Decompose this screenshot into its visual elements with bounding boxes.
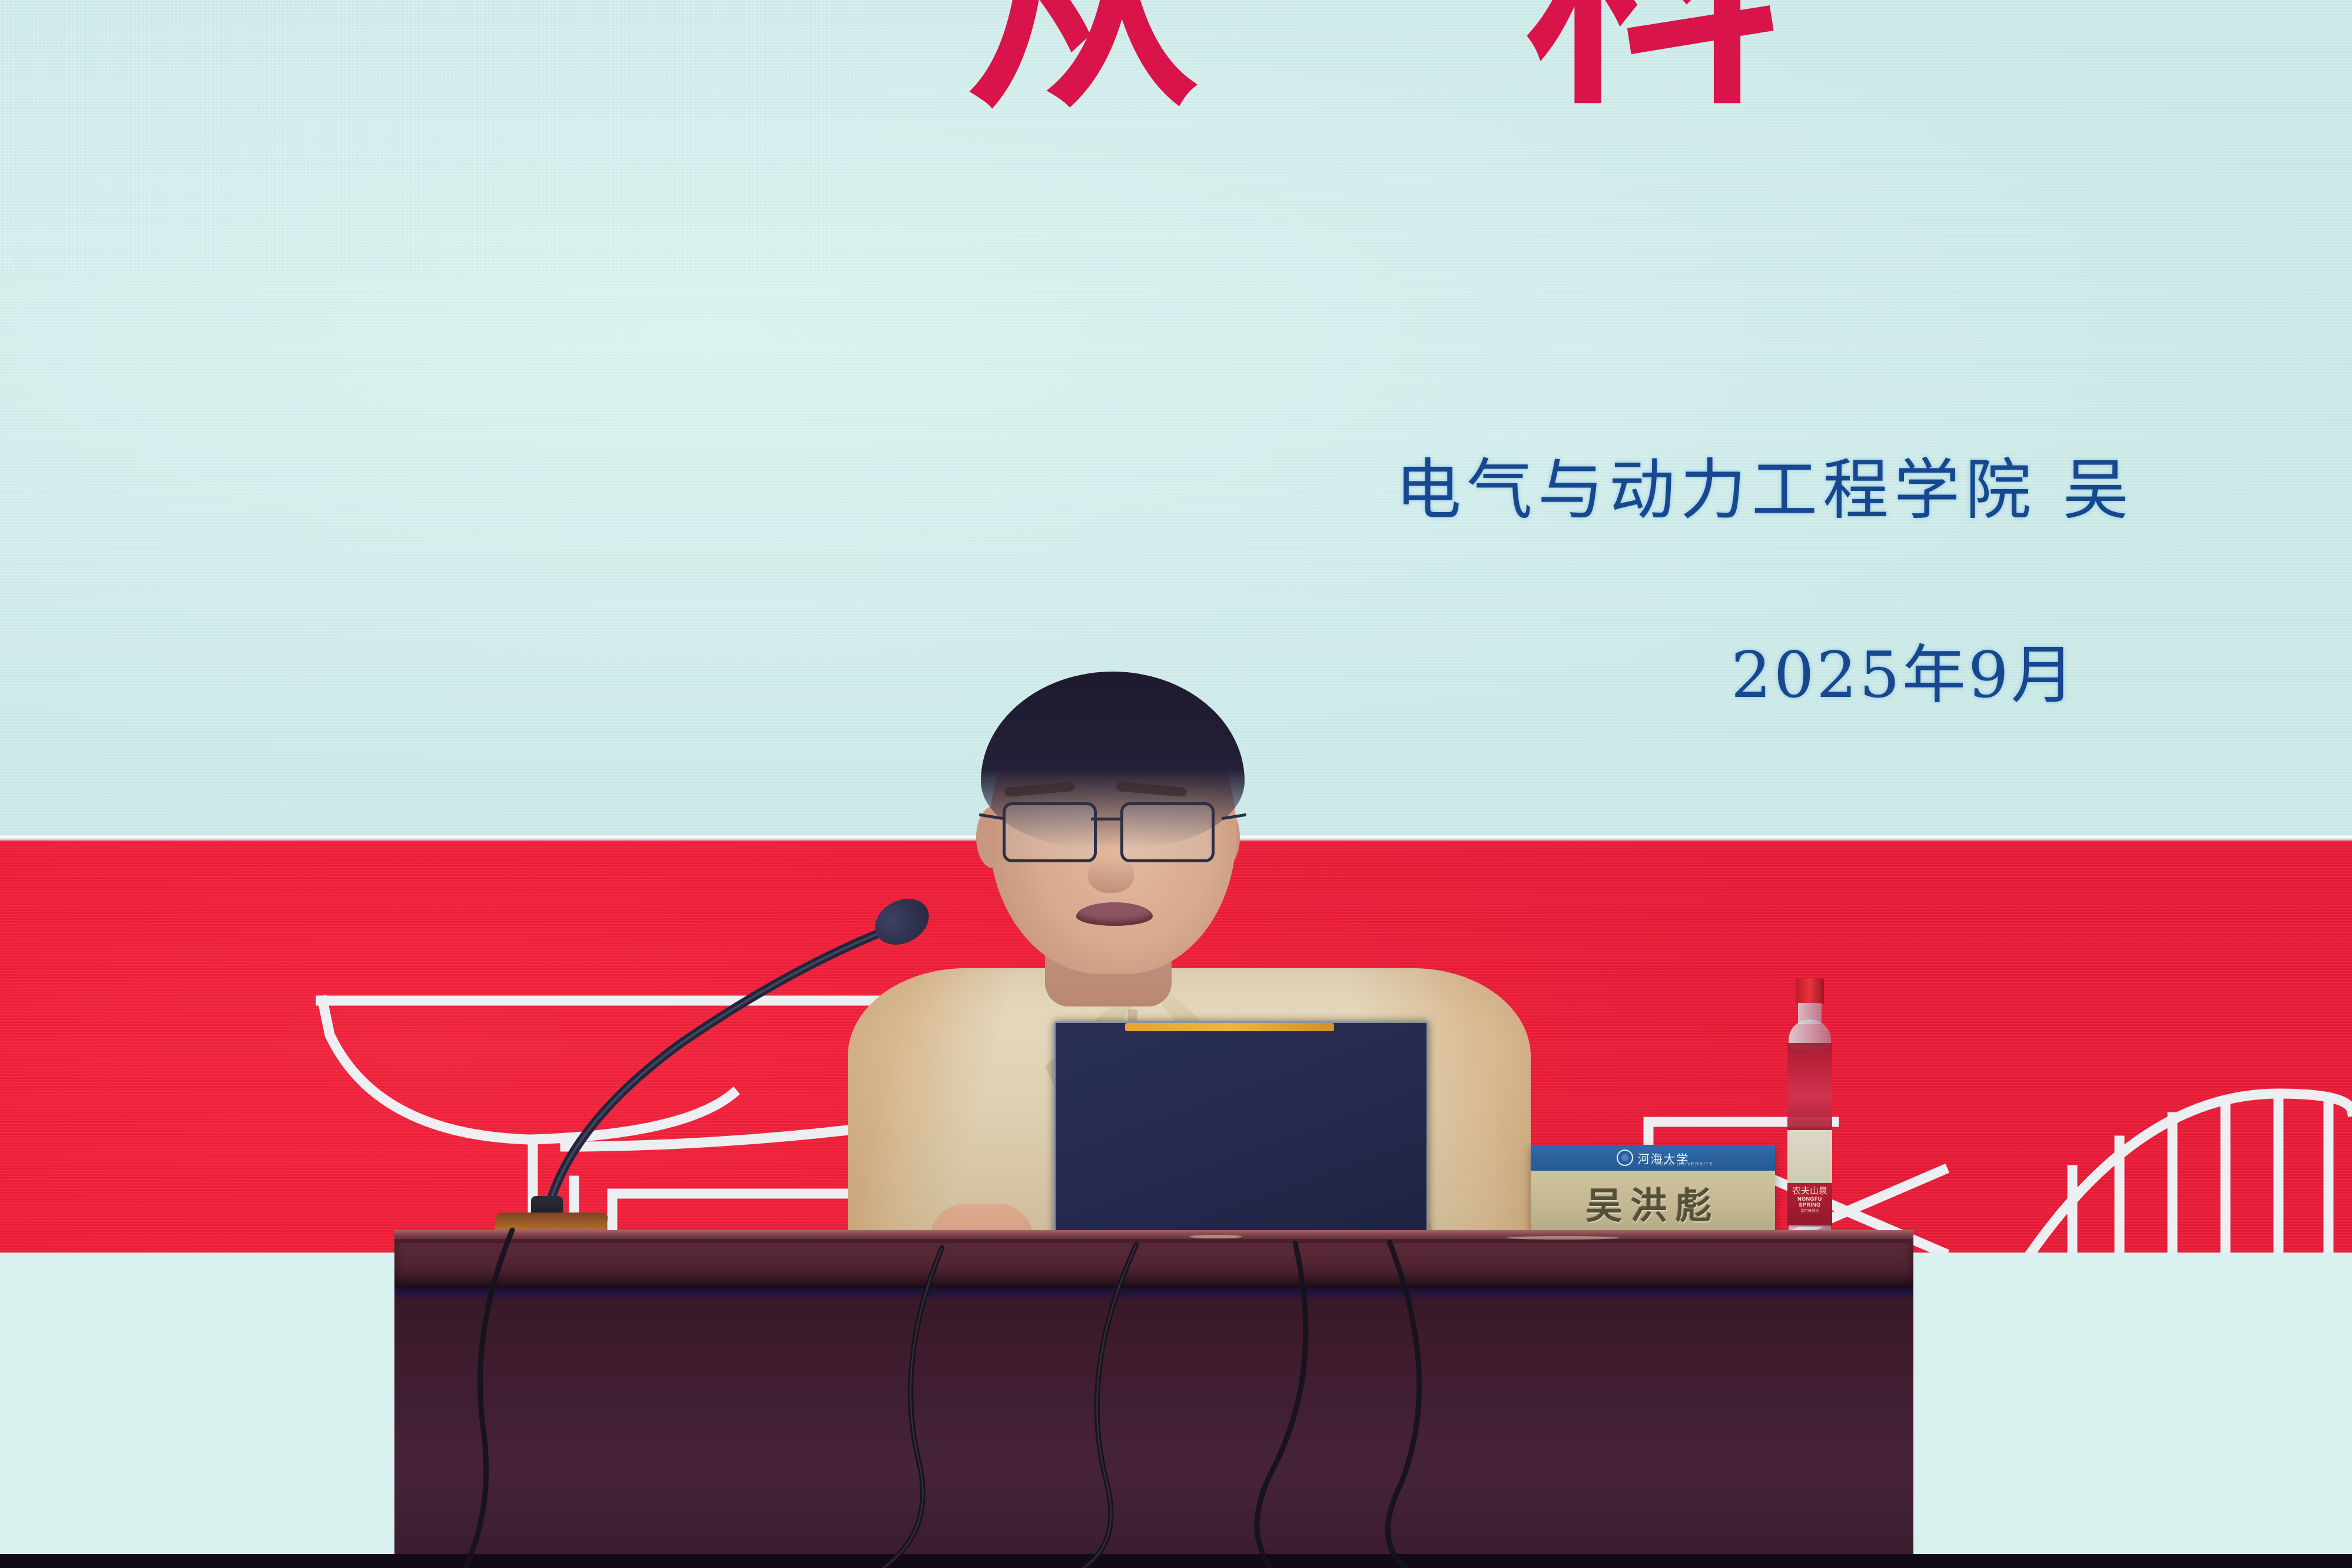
lens-left bbox=[1003, 802, 1097, 862]
gooseneck-microphone bbox=[489, 895, 971, 1260]
water-bottle: 农夫山泉 NONGFU SPRING 饮用天然水 bbox=[1782, 978, 1838, 1236]
bottle-brand-en: NONGFU SPRING bbox=[1787, 1196, 1832, 1208]
lens-right bbox=[1120, 802, 1215, 862]
mouth bbox=[1076, 902, 1153, 926]
slide-date-line: 2025年9月 bbox=[1731, 624, 2077, 716]
hohai-emblem-icon bbox=[1617, 1150, 1633, 1166]
eyeglasses bbox=[992, 798, 1233, 862]
speaker-nameplate: 河海大学 HOHAI UNIVERSITY 吴洪彪 bbox=[1531, 1145, 1775, 1234]
nameplate-university-en: HOHAI UNIVERSITY bbox=[1656, 1161, 1713, 1167]
calligraphy-character-1: 从 bbox=[966, 0, 1201, 120]
stage-floor bbox=[0, 1554, 2352, 1568]
slide-department-line: 电气与动力工程学院 吴 bbox=[1395, 437, 2134, 532]
bottle-cap bbox=[1796, 978, 1824, 1004]
nameplate-speaker-name: 吴洪彪 bbox=[1585, 1176, 1720, 1229]
nameplate-body: 吴洪彪 bbox=[1531, 1171, 1775, 1234]
podium-glint-left bbox=[1189, 1235, 1242, 1238]
bottle-brand-cn: 农夫山泉 bbox=[1787, 1183, 1832, 1196]
bottle-label-middle bbox=[1787, 1130, 1832, 1184]
podium-shadow-band bbox=[394, 1288, 1913, 1297]
nameplate-university-band: 河海大学 HOHAI UNIVERSITY bbox=[1531, 1145, 1775, 1171]
screen-texture bbox=[0, 0, 883, 277]
podium-glint-right bbox=[1507, 1236, 1619, 1240]
bottle-subtext: 饮用天然水 bbox=[1787, 1208, 1832, 1213]
bottle-label-lower: 农夫山泉 NONGFU SPRING 饮用天然水 bbox=[1787, 1183, 1832, 1227]
laptop-accent-strip bbox=[1125, 1023, 1334, 1031]
bottle-label-upper bbox=[1787, 1043, 1832, 1131]
podium-upper-rail bbox=[394, 1243, 1913, 1289]
calligraphy-character-2: 科 bbox=[1525, 0, 1778, 118]
laptop[interactable] bbox=[1054, 1015, 1425, 1245]
photo-stage: 从 科 电气与动力工程学院 吴 2025年9月 bbox=[0, 0, 2352, 1568]
glasses-bridge bbox=[1091, 818, 1122, 820]
laptop-lid[interactable] bbox=[1054, 1021, 1428, 1245]
